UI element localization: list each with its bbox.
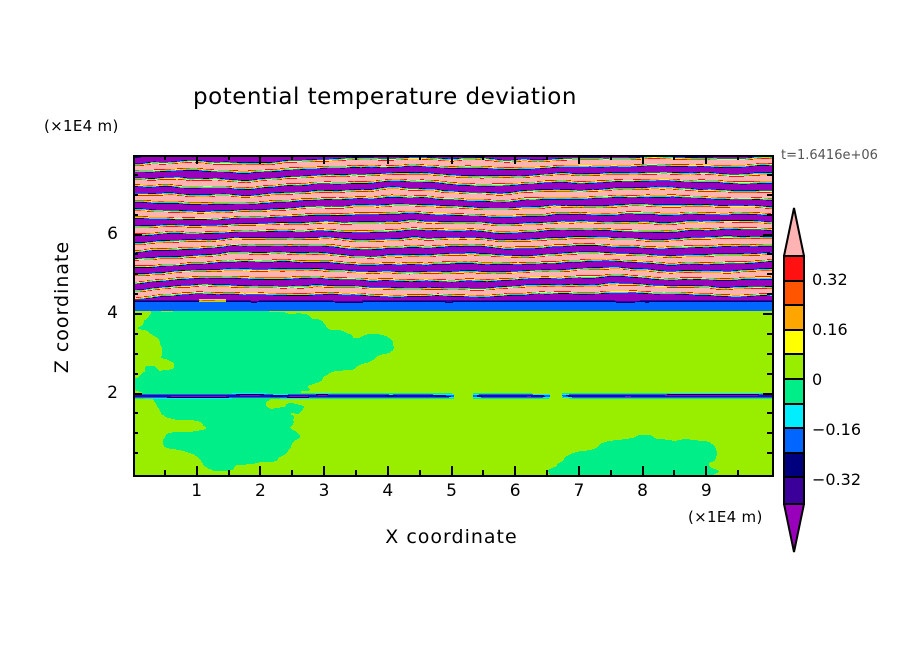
- colorbar-band: [785, 331, 803, 356]
- y-tick-major: [133, 393, 142, 395]
- y-tick-minor: [133, 194, 138, 196]
- y-axis-title: Z coordinate: [51, 217, 73, 397]
- x-tick-major: [196, 466, 198, 475]
- x-tick-label: 3: [304, 481, 344, 501]
- y-tick-minor: [133, 353, 138, 355]
- colorbar-tick-label: −0.32: [812, 470, 861, 489]
- y-tick-minor-right: [767, 353, 772, 355]
- x-tick-minor: [482, 470, 484, 475]
- x-tick-major-top: [451, 155, 453, 164]
- x-tick-major-top: [705, 155, 707, 164]
- x-tick-major-top: [196, 155, 198, 164]
- x-tick-minor: [673, 470, 675, 475]
- x-tick-major-top: [387, 155, 389, 164]
- x-tick-minor: [737, 470, 739, 475]
- x-tick-label: 7: [559, 481, 599, 501]
- y-tick-minor: [133, 174, 138, 176]
- x-tick-minor-top: [482, 155, 484, 160]
- colorbar-tick-label: 0.16: [812, 320, 848, 339]
- figure-canvas: potential temperature deviation (×1E4 m)…: [0, 0, 904, 654]
- y-tick-minor-right: [767, 412, 772, 414]
- y-tick-minor: [133, 293, 138, 295]
- colorbar-band: [785, 380, 803, 405]
- y-tick-minor: [133, 373, 138, 375]
- x-tick-label: 9: [686, 481, 726, 501]
- x-tick-major-top: [514, 155, 516, 164]
- y-tick-major: [133, 234, 142, 236]
- x-tick-label: 2: [240, 481, 280, 501]
- x-tick-minor: [291, 470, 293, 475]
- colorbar-band: [785, 306, 803, 331]
- x-tick-minor-top: [419, 155, 421, 160]
- y-axis-unit-label: (×1E4 m): [44, 117, 119, 135]
- x-tick-major: [705, 466, 707, 475]
- contour-plot-area: [133, 155, 774, 477]
- y-tick-major-right: [763, 234, 772, 236]
- colorbar-band: [785, 282, 803, 307]
- x-tick-minor: [610, 470, 612, 475]
- x-tick-major: [451, 466, 453, 475]
- x-tick-minor-top: [228, 155, 230, 160]
- x-tick-label: 6: [495, 481, 535, 501]
- scalar-field-heatmap: [135, 157, 772, 475]
- x-tick-label: 8: [623, 481, 663, 501]
- x-tick-major: [642, 466, 644, 475]
- x-tick-minor-top: [355, 155, 357, 160]
- y-tick-minor: [133, 273, 138, 275]
- colorbar-band: [785, 429, 803, 454]
- x-tick-major: [387, 466, 389, 475]
- x-tick-major: [323, 466, 325, 475]
- x-tick-minor: [164, 470, 166, 475]
- colorbar-band: [785, 454, 803, 479]
- y-tick-minor: [133, 333, 138, 335]
- colorbar-bands: [783, 255, 805, 505]
- y-tick-label: 4: [78, 303, 118, 323]
- y-tick-minor-right: [767, 214, 772, 216]
- y-tick-minor-right: [767, 293, 772, 295]
- x-tick-major: [578, 466, 580, 475]
- x-tick-minor-top: [610, 155, 612, 160]
- x-tick-label: 5: [432, 481, 472, 501]
- y-tick-minor: [133, 452, 138, 454]
- x-axis-unit-label: (×1E4 m): [688, 508, 763, 526]
- page-title: potential temperature deviation: [0, 84, 770, 110]
- colorbar: [783, 207, 805, 507]
- colorbar-tick-label: 0: [812, 370, 822, 389]
- x-tick-label: 4: [368, 481, 408, 501]
- x-tick-major-top: [323, 155, 325, 164]
- y-tick-major: [133, 313, 142, 315]
- x-tick-major-top: [578, 155, 580, 164]
- x-tick-major: [259, 466, 261, 475]
- timestamp-annotation: t=1.6416e+06: [781, 148, 878, 163]
- y-tick-minor-right: [767, 273, 772, 275]
- x-tick-major: [514, 466, 516, 475]
- y-tick-minor: [133, 253, 138, 255]
- x-tick-label: 1: [177, 481, 217, 501]
- y-tick-minor-right: [767, 333, 772, 335]
- y-tick-minor-right: [767, 194, 772, 196]
- colorbar-band: [785, 257, 803, 282]
- x-tick-minor: [419, 470, 421, 475]
- x-tick-minor: [546, 470, 548, 475]
- colorbar-band: [785, 355, 803, 380]
- y-tick-major-right: [763, 313, 772, 315]
- colorbar-extend-low-arrow: [783, 503, 805, 553]
- colorbar-extend-high-arrow: [783, 207, 805, 257]
- y-tick-minor: [133, 432, 138, 434]
- y-tick-minor-right: [767, 253, 772, 255]
- x-tick-major-top: [259, 155, 261, 164]
- x-tick-minor-top: [291, 155, 293, 160]
- y-tick-minor: [133, 412, 138, 414]
- x-tick-minor-top: [164, 155, 166, 160]
- x-tick-minor-top: [737, 155, 739, 160]
- x-tick-minor-top: [673, 155, 675, 160]
- colorbar-tick-label: 0.32: [812, 270, 848, 289]
- x-tick-minor: [228, 470, 230, 475]
- y-tick-minor-right: [767, 174, 772, 176]
- y-tick-minor-right: [767, 452, 772, 454]
- x-tick-minor: [355, 470, 357, 475]
- x-axis-title: X coordinate: [133, 526, 770, 548]
- y-tick-minor-right: [767, 432, 772, 434]
- colorbar-band: [785, 405, 803, 430]
- x-tick-minor-top: [546, 155, 548, 160]
- y-tick-major-right: [763, 393, 772, 395]
- y-tick-label: 2: [78, 383, 118, 403]
- colorbar-band: [785, 478, 803, 503]
- y-tick-minor: [133, 214, 138, 216]
- y-tick-minor-right: [767, 373, 772, 375]
- y-tick-label: 6: [78, 224, 118, 244]
- colorbar-tick-label: −0.16: [812, 420, 861, 439]
- x-tick-major-top: [642, 155, 644, 164]
